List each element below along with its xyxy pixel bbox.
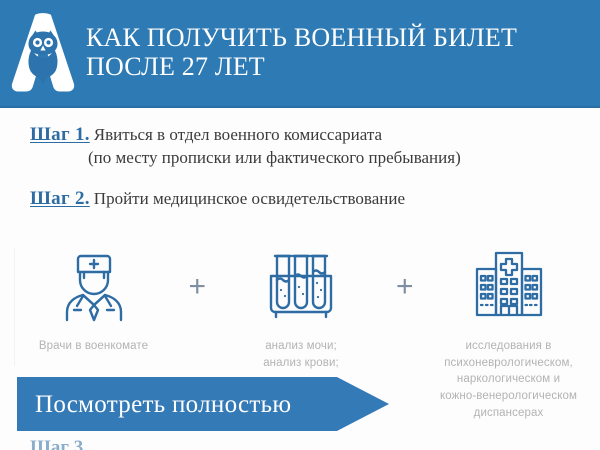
plus-separator-1: + (185, 272, 209, 302)
doctor-icon (53, 246, 135, 330)
left-divider (14, 248, 15, 366)
hospital-building-icon (468, 246, 550, 330)
requirement-caption: исследования в психоневрологическом, нар… (440, 338, 577, 421)
step-subtext: (по месту прописки или фактического преб… (30, 147, 575, 170)
step-item-2: Шаг 2.Пройти медицинское освидетельствов… (30, 186, 575, 211)
requirement-item-analyses: анализ мочи; анализ крови; (224, 246, 379, 371)
infographic-page: КАК ПОЛУЧИТЬ ВОЕННЫЙ БИЛЕТ ПОСЛЕ 27 ЛЕТ … (0, 0, 600, 450)
test-tubes-icon (260, 246, 342, 330)
step-line: Шаг 1.Явиться в отдел военного комиссари… (30, 122, 575, 147)
step-line: Шаг 2.Пройти медицинское освидетельствов… (30, 186, 575, 211)
plus-separator-2: + (393, 272, 417, 302)
page-header: КАК ПОЛУЧИТЬ ВОЕННЫЙ БИЛЕТ ПОСЛЕ 27 ЛЕТ (0, 0, 600, 108)
view-full-button-label: Посмотреть полностью (17, 392, 291, 417)
step-label: Шаг 2. (30, 188, 90, 209)
step-label: Шаг 1. (30, 124, 90, 145)
step-text: Пройти медицинское освидетельствование (94, 189, 405, 208)
requirement-caption: Врачи в военкомате (39, 338, 148, 355)
step-text: Явиться в отдел военного комиссариата (94, 125, 382, 144)
requirement-caption: анализ мочи; анализ крови; (263, 338, 339, 371)
step-item-1: Шаг 1.Явиться в отдел военного комиссари… (30, 122, 575, 170)
requirement-item-dispensaries: исследования в психоневрологическом, нар… (431, 246, 586, 421)
requirement-item-doctors: Врачи в военкомате (16, 246, 171, 355)
next-step-peek-label: Шаг 3. (30, 438, 88, 450)
view-full-button[interactable]: Посмотреть полностью (17, 377, 389, 431)
page-title: КАК ПОЛУЧИТЬ ВОЕННЫЙ БИЛЕТ ПОСЛЕ 27 ЛЕТ (86, 23, 527, 83)
steps-list: Шаг 1.Явиться в отдел военного комиссари… (30, 122, 575, 227)
owl-in-letter-a-logo (6, 12, 80, 94)
